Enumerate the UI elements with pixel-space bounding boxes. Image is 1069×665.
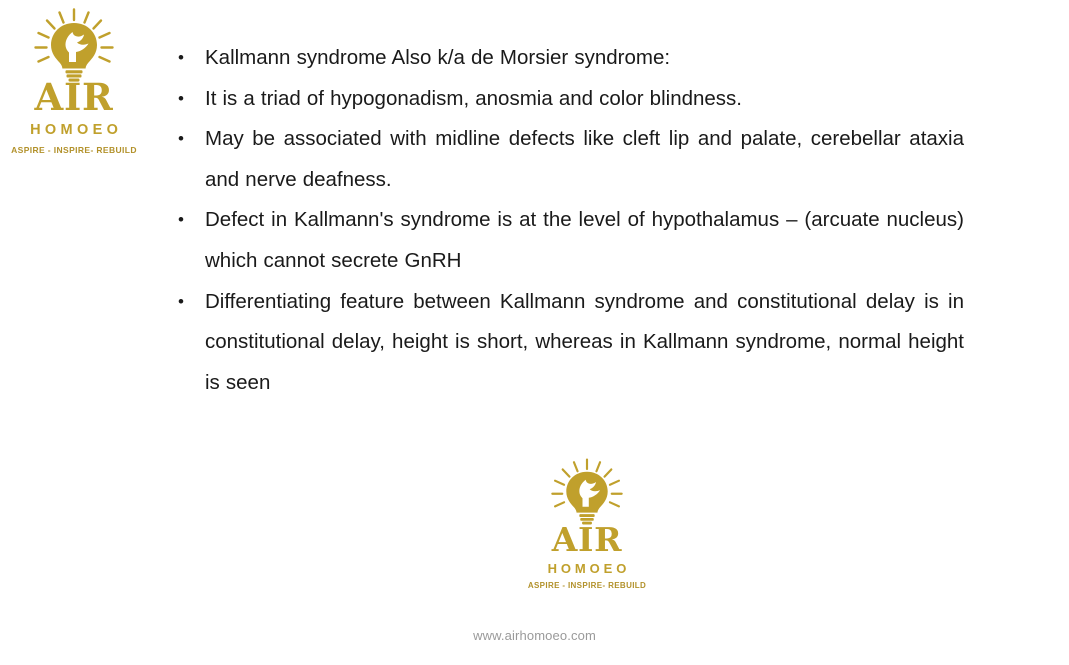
brand-wordmark: AIR bbox=[552, 523, 622, 556]
bullet-marker: • bbox=[172, 200, 205, 241]
slide-canvas: AIR HOMOEO ASPIRE - INSPIRE- REBUILD • K… bbox=[0, 0, 1069, 665]
list-item: • It is a triad of hypogonadism, anosmia… bbox=[172, 79, 964, 120]
lightbulb-leaf-icon bbox=[24, 8, 124, 82]
bullet-text: Differentiating feature between Kallmann… bbox=[205, 282, 964, 404]
bullet-text: It is a triad of hypogonadism, anosmia a… bbox=[205, 79, 964, 120]
list-item: • Kallmann syndrome Also k/a de Morsier … bbox=[172, 38, 964, 79]
bullet-text: Defect in Kallmann's syndrome is at the … bbox=[205, 200, 964, 281]
brand-tagline: ASPIRE - INSPIRE- REBUILD bbox=[11, 146, 137, 155]
brand-subtitle: HOMOEO bbox=[26, 123, 123, 138]
bullet-text: May be associated with midline defects l… bbox=[205, 119, 964, 200]
list-item: • Differentiating feature between Kallma… bbox=[172, 282, 964, 404]
lightbulb-leaf-icon bbox=[542, 458, 632, 525]
brand-tagline: ASPIRE - INSPIRE- REBUILD bbox=[528, 582, 646, 590]
brand-logo-center: AIR HOMOEO ASPIRE - INSPIRE- REBUILD bbox=[531, 458, 643, 590]
footer-website-url: www.airhomoeo.com bbox=[0, 628, 1069, 643]
list-item: • May be associated with midline defects… bbox=[172, 119, 964, 200]
brand-subtitle: HOMOEO bbox=[544, 562, 631, 575]
bullet-marker: • bbox=[172, 282, 205, 323]
bullet-marker: • bbox=[172, 79, 205, 120]
list-item: • Defect in Kallmann's syndrome is at th… bbox=[172, 200, 964, 281]
bullet-text: Kallmann syndrome Also k/a de Morsier sy… bbox=[205, 38, 964, 79]
bullet-marker: • bbox=[172, 119, 205, 160]
bullet-marker: • bbox=[172, 38, 205, 79]
brand-wordmark: AIR bbox=[35, 79, 114, 116]
bullet-list: • Kallmann syndrome Also k/a de Morsier … bbox=[172, 38, 964, 403]
brand-logo-corner: AIR HOMOEO ASPIRE - INSPIRE- REBUILD bbox=[18, 8, 130, 154]
